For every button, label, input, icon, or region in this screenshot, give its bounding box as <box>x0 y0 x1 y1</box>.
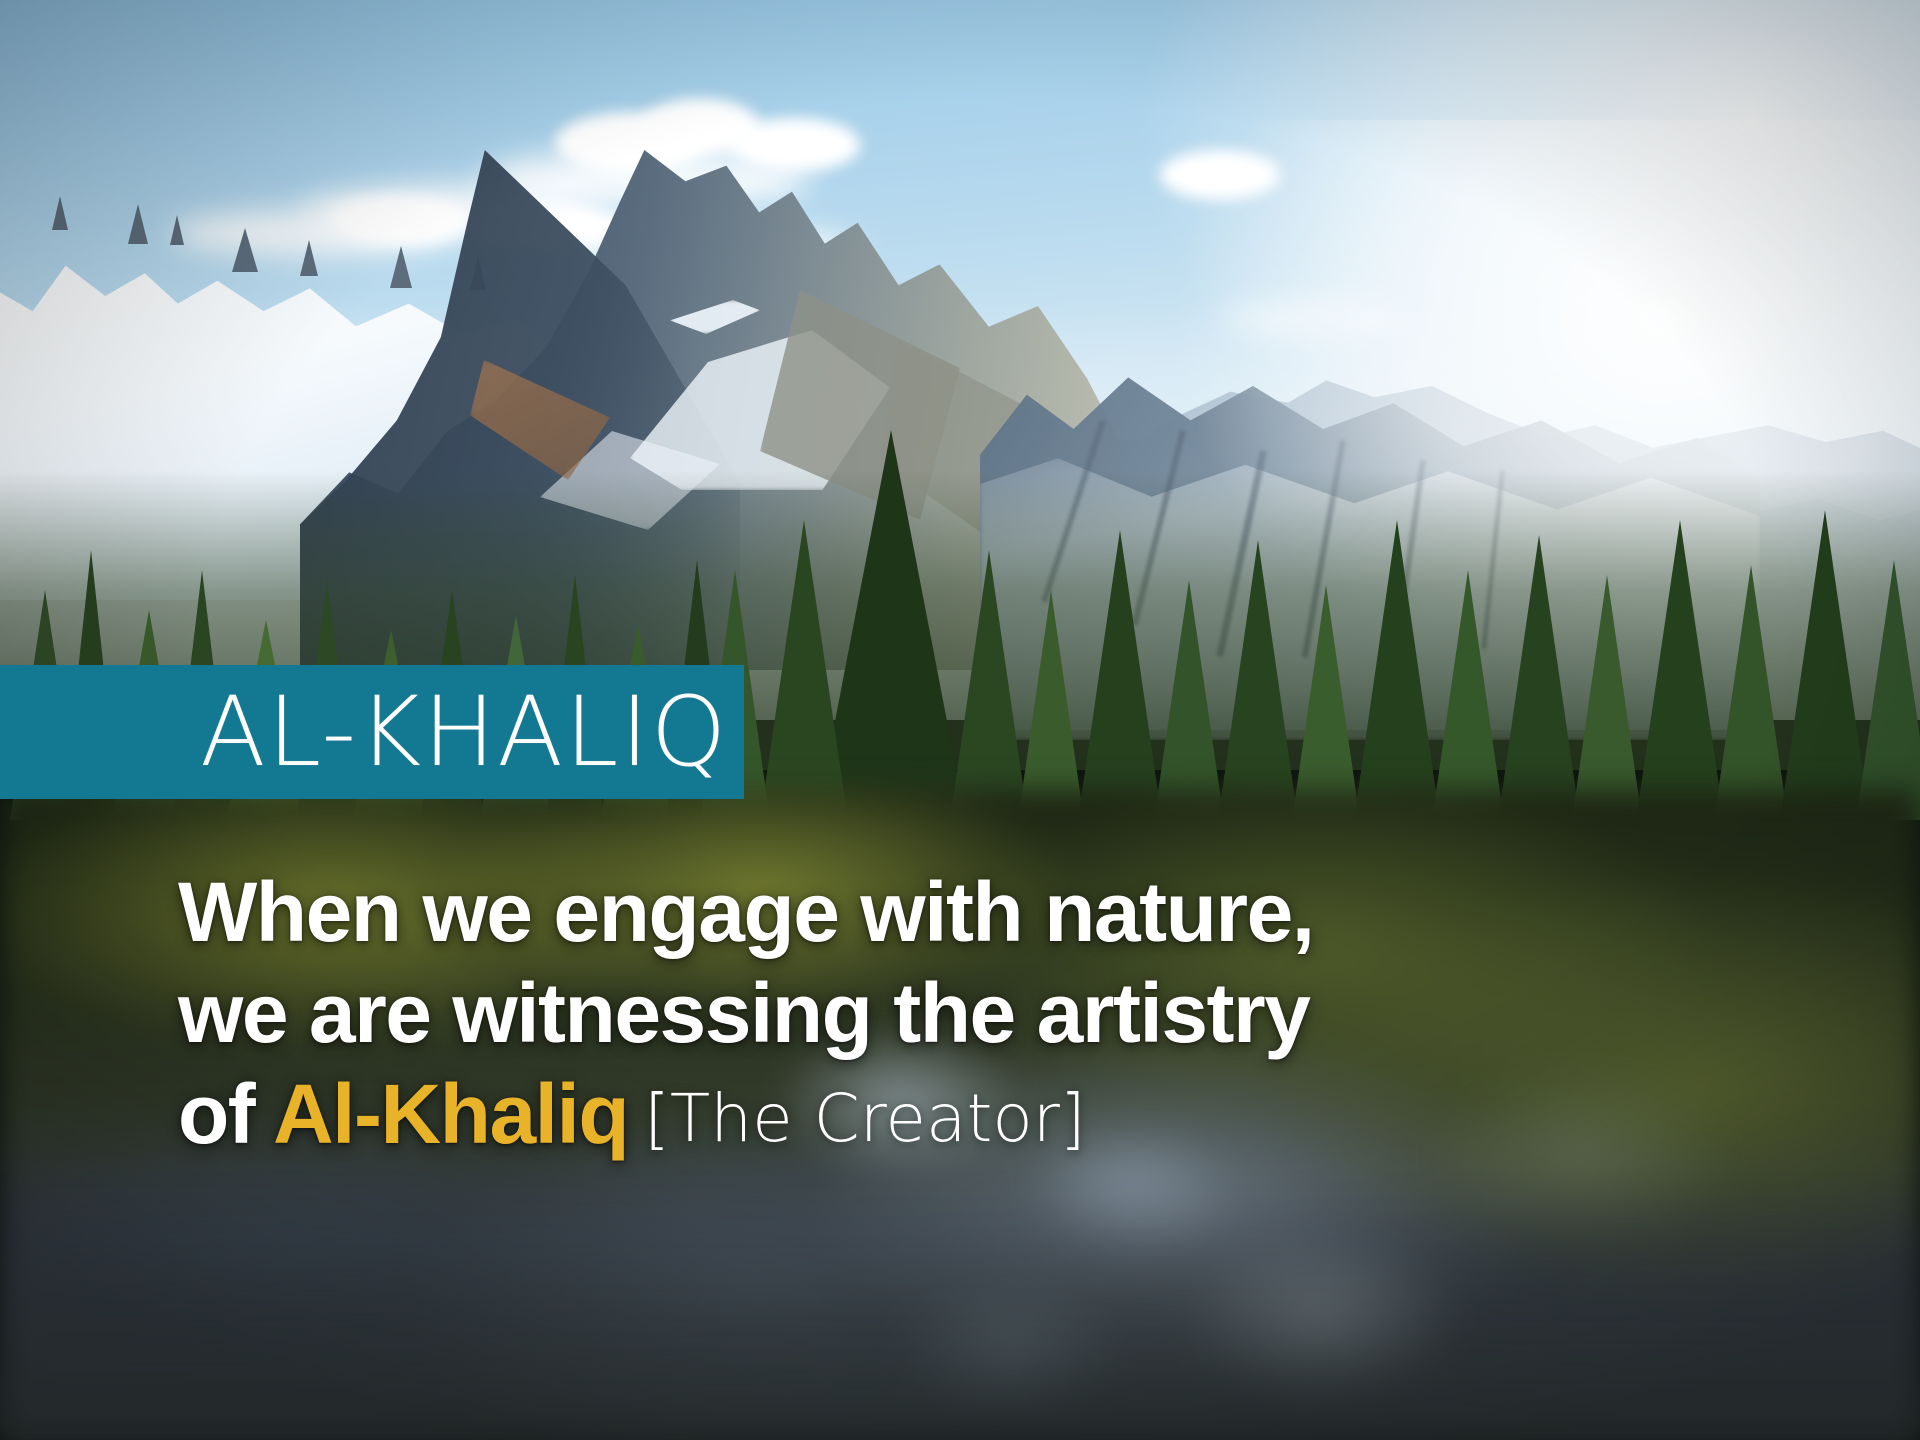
title-banner: AL-KHALIQ <box>0 665 744 799</box>
foreground-shadow-gradient <box>0 1180 1920 1440</box>
conifer-tree <box>1714 565 1788 820</box>
conifer-tree <box>1018 590 1084 820</box>
conifer-tree <box>1154 580 1224 820</box>
conifer-tree <box>1354 520 1440 820</box>
quote-block: When we engage with nature, we are witne… <box>178 862 1478 1164</box>
conifer-tree <box>950 550 1028 820</box>
quote-translation: [The Creator] <box>628 1080 1085 1157</box>
cloud-12 <box>1220 300 1400 336</box>
divine-name-title: AL-KHALIQ <box>200 684 728 780</box>
poster-canvas: AL-KHALIQ When we engage with nature, we… <box>0 0 1920 1440</box>
conifer-tree <box>1498 535 1580 820</box>
conifer-tree <box>1218 540 1298 820</box>
conifer-tree <box>1078 530 1162 820</box>
quote-highlight-name: Al-Khaliq <box>273 1067 628 1161</box>
conifer-tree <box>1636 520 1724 820</box>
quote-line3-prefix: of <box>178 1067 273 1161</box>
conifer-tree <box>1432 570 1504 820</box>
conifer-tree <box>1856 560 1920 820</box>
conifer-tree <box>760 520 848 820</box>
quote-line-2: we are witnessing the artistry <box>178 963 1478 1064</box>
cloud-11 <box>1160 150 1280 200</box>
conifer-tree <box>1292 585 1360 820</box>
quote-line-1: When we engage with nature, <box>178 862 1478 963</box>
quote-line-3: of Al-Khaliq[The Creator] <box>178 1064 1478 1165</box>
conifer-tree <box>1572 575 1642 820</box>
